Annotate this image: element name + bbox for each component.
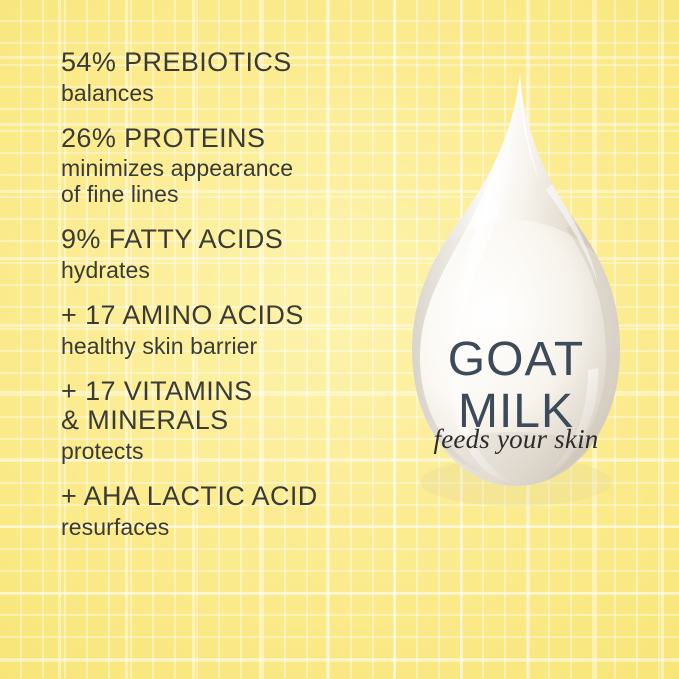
fact-title: + 17 VITAMINS & MINERALS	[61, 377, 391, 436]
list-item: 26% PROTEINS minimizes appearance of fin…	[61, 124, 391, 208]
fact-title: 54% PREBIOTICS	[61, 48, 391, 78]
product-benefits-graphic: 54% PREBIOTICS balances 26% PROTEINS min…	[0, 0, 679, 679]
list-item: 9% FATTY ACIDS hydrates	[61, 225, 391, 283]
list-item: + 17 AMINO ACIDS healthy skin barrier	[61, 301, 391, 359]
list-item: 54% PREBIOTICS balances	[61, 48, 391, 106]
fact-subtitle: minimizes appearance of fine lines	[61, 155, 391, 207]
list-item: + 17 VITAMINS & MINERALS protects	[61, 377, 391, 464]
fact-subtitle: resurfaces	[61, 514, 391, 540]
milk-droplet-icon	[376, 58, 656, 558]
fact-subtitle: protects	[61, 438, 391, 464]
fact-title: + AHA LACTIC ACID	[61, 482, 391, 512]
fact-subtitle: healthy skin barrier	[61, 333, 391, 359]
fact-title: + 17 AMINO ACIDS	[61, 301, 391, 331]
milk-droplet-illustration	[376, 58, 656, 558]
fact-subtitle: hydrates	[61, 257, 391, 283]
list-item: + AHA LACTIC ACID resurfaces	[61, 482, 391, 540]
fact-title: 26% PROTEINS	[61, 124, 391, 154]
fact-subtitle: balances	[61, 80, 391, 106]
ingredient-facts-list: 54% PREBIOTICS balances 26% PROTEINS min…	[61, 48, 391, 558]
fact-title: 9% FATTY ACIDS	[61, 225, 391, 255]
